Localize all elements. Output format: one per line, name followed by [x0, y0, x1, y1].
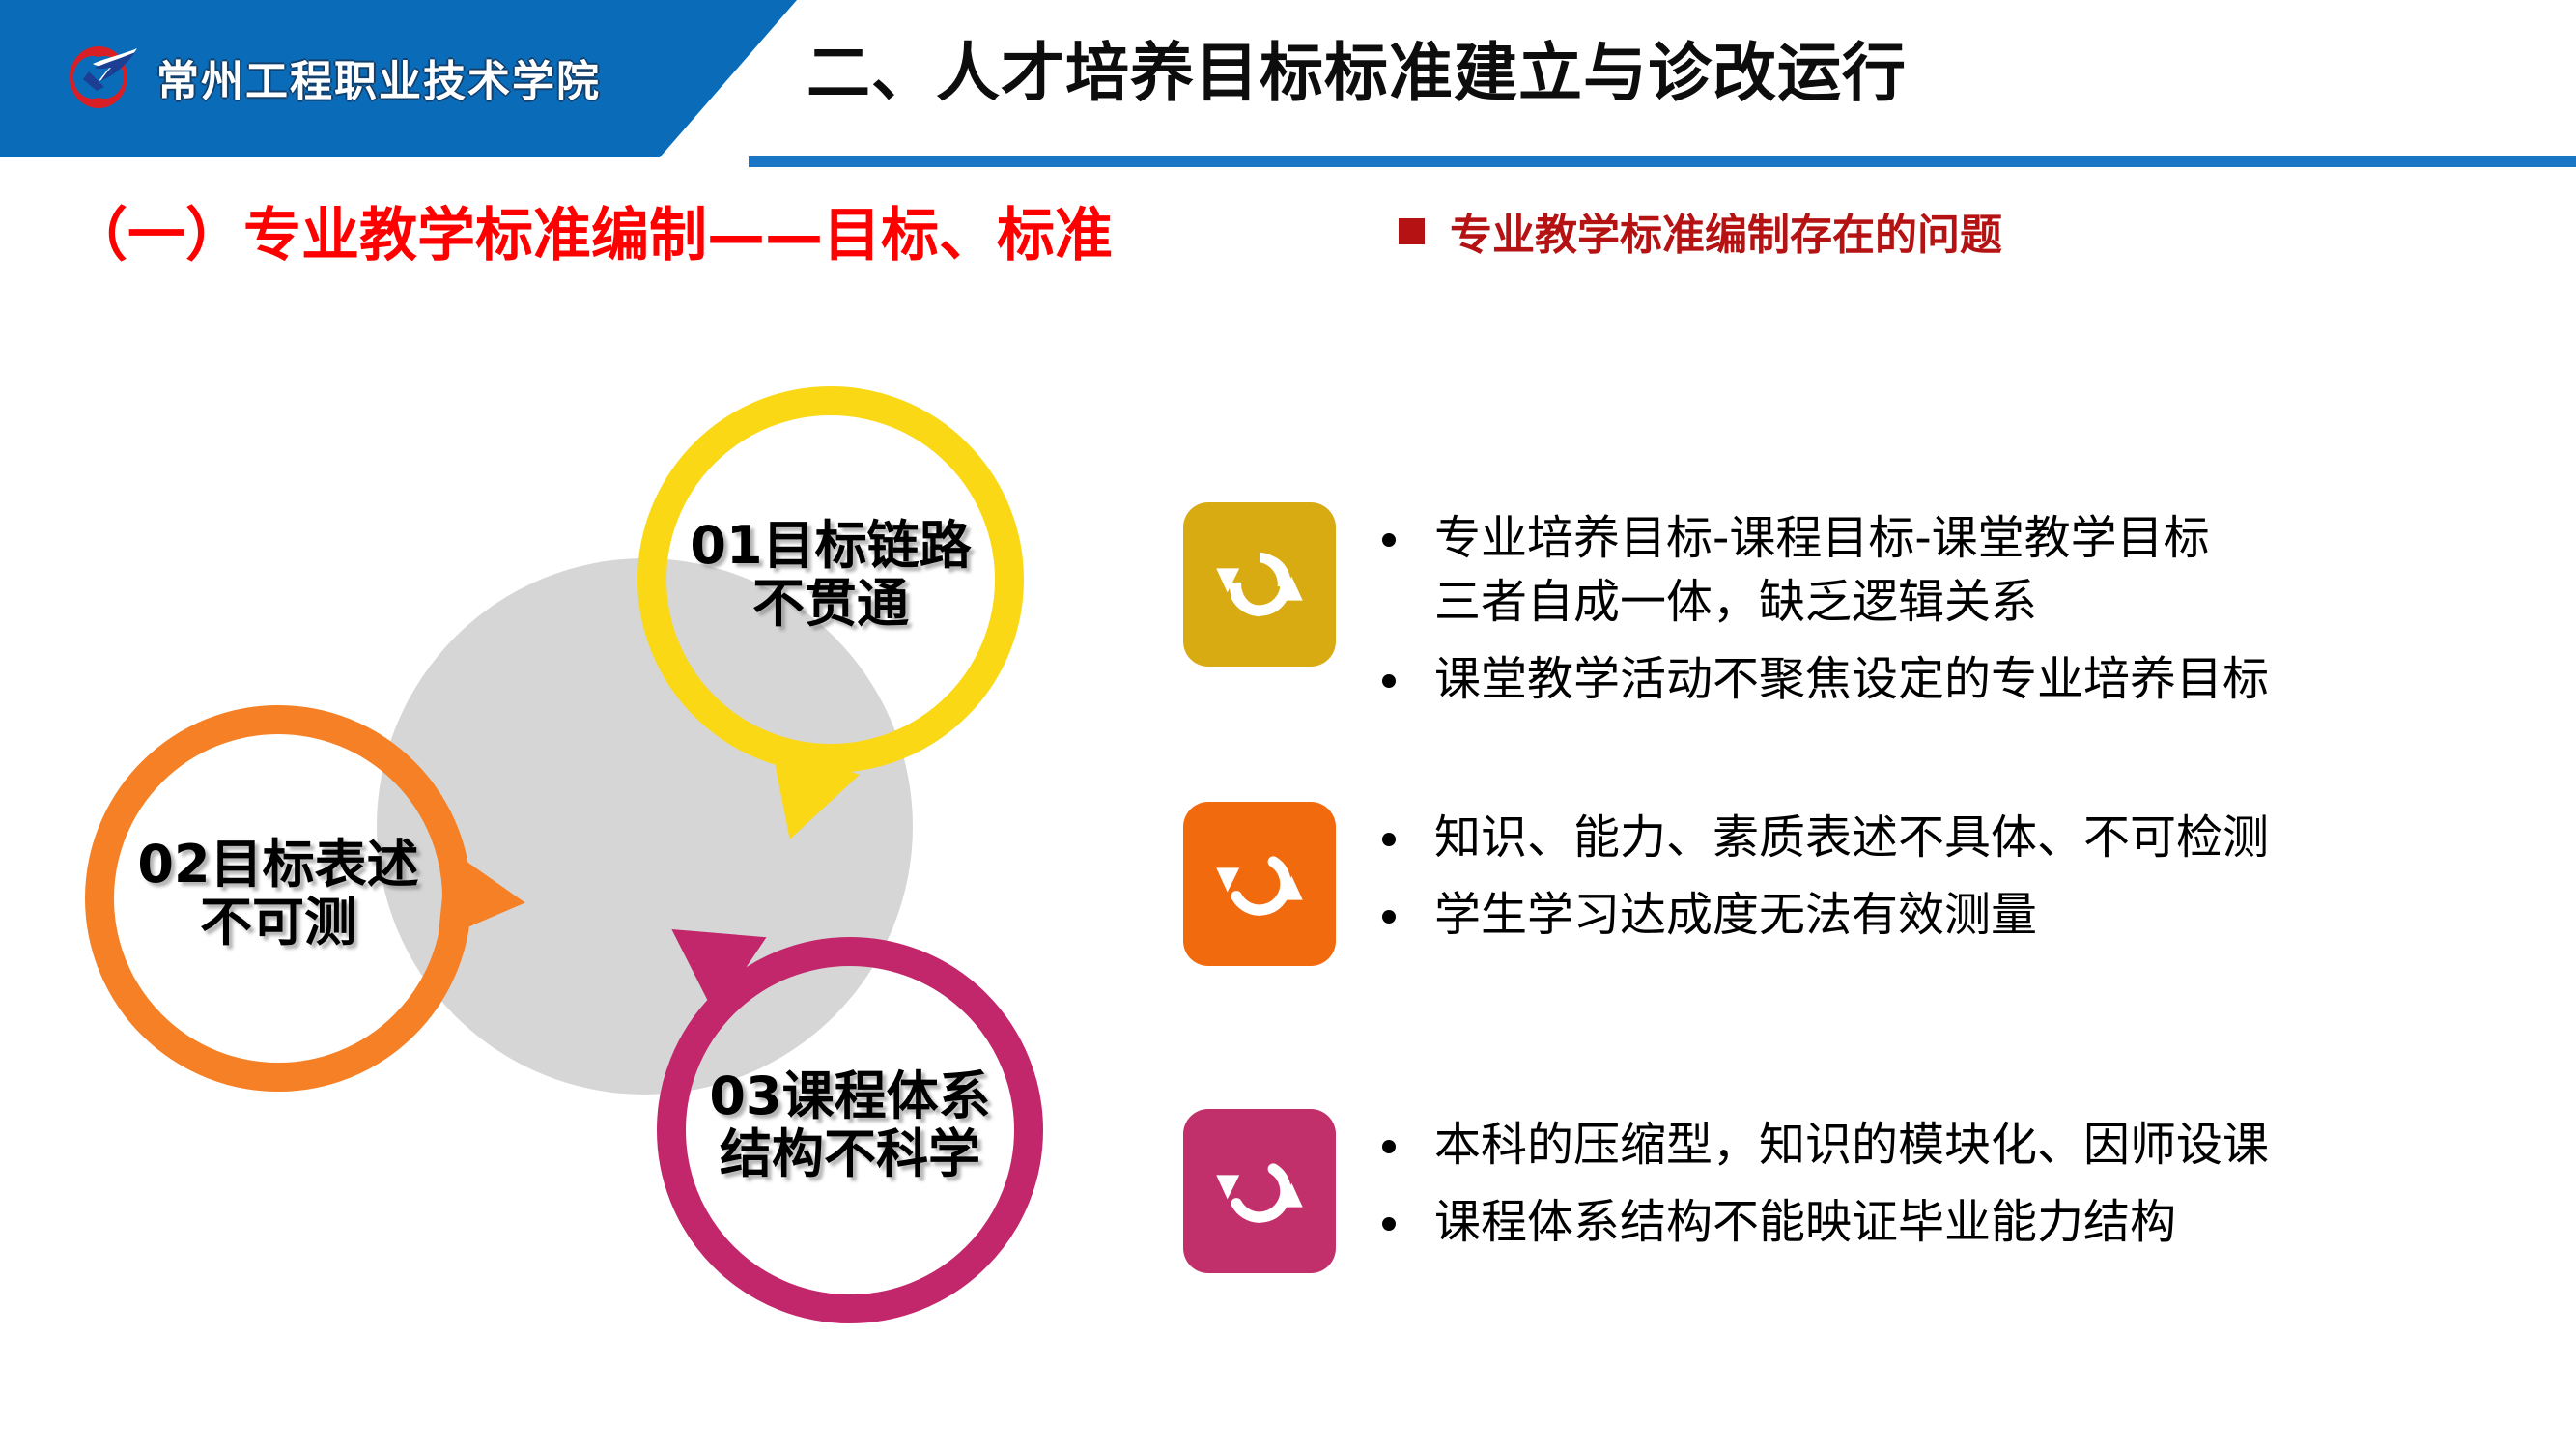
diagram-ring-03[interactable]: 03课程体系 结构不科学	[657, 937, 1043, 1323]
list-item: 知识、能力、素质表述不具体、不可检测	[1382, 806, 2269, 869]
bullet-dot-icon	[1382, 674, 1396, 688]
diagram-ring-03-line1: 03课程体系	[686, 1067, 1014, 1125]
section-subtitle: （一）专业教学标准编制——目标、标准	[70, 188, 1113, 272]
list-item: 专业培养目标-课程目标-课堂教学目标 三者自成一体，缺乏逻辑关系	[1382, 506, 2269, 634]
institution-logo: 常州工程职业技术学院	[60, 39, 601, 116]
problem-detail-row-1: 专业培养目标-课程目标-课堂教学目标 三者自成一体，缺乏逻辑关系 课堂教学活动不…	[1183, 502, 2269, 725]
list-item: 课堂教学活动不聚焦设定的专业培养目标	[1382, 647, 2269, 711]
diagram-ring-03-label: 03课程体系 结构不科学	[686, 1067, 1014, 1184]
diagram-ring-02-label: 02目标表述 不可测	[114, 836, 442, 952]
bullet-dot-icon	[1382, 910, 1396, 924]
problem-detail-row-3-bullets: 本科的压缩型，知识的模块化、因师设课 课程体系结构不能映证毕业能力结构	[1382, 1109, 2269, 1267]
diagram-ring-02[interactable]: 02目标表述 不可测	[85, 705, 471, 1092]
problem-diagram: 02目标表述 不可测 01目标链路 不贯通 03课程体系 结构不科学	[58, 319, 1198, 1420]
refresh-cycle-icon	[1183, 502, 1336, 667]
diagram-ring-01[interactable]: 01目标链路 不贯通	[637, 386, 1024, 773]
diagram-ring-01-line1: 01目标链路	[666, 517, 995, 575]
diagram-ring-03-line2: 结构不科学	[686, 1125, 1014, 1183]
list-item-text: 学生学习达成度无法有效测量	[1434, 883, 2037, 947]
bullet-dot-icon	[1382, 833, 1396, 846]
list-item-text: 课堂教学活动不聚焦设定的专业培养目标	[1434, 647, 2269, 711]
bullet-dot-icon	[1382, 1140, 1396, 1153]
problem-detail-row-2-bullets: 知识、能力、素质表述不具体、不可检测 学生学习达成度无法有效测量	[1382, 802, 2269, 960]
bullet-dot-icon	[1382, 533, 1396, 547]
problem-detail-row-3: 本科的压缩型，知识的模块化、因师设课 课程体系结构不能映证毕业能力结构	[1183, 1109, 2269, 1273]
diagram-ring-02-line1: 02目标表述	[114, 836, 442, 894]
list-item: 学生学习达成度无法有效测量	[1382, 883, 2269, 947]
list-item-text: 本科的压缩型，知识的模块化、因师设课	[1434, 1113, 2269, 1177]
university-emblem-icon	[60, 43, 139, 112]
list-item: 课程体系结构不能映证毕业能力结构	[1382, 1190, 2269, 1254]
list-item: 本科的压缩型，知识的模块化、因师设课	[1382, 1113, 2269, 1177]
refresh-cycle-icon	[1183, 802, 1336, 966]
refresh-cycle-icon	[1183, 1109, 1336, 1273]
list-item-text: 知识、能力、素质表述不具体、不可检测	[1434, 806, 2269, 869]
list-item-text: 专业培养目标-课程目标-课堂教学目标 三者自成一体，缺乏逻辑关系	[1434, 506, 2210, 634]
diagram-ring-02-line2: 不可测	[114, 894, 442, 952]
diagram-ring-01-line2: 不贯通	[666, 575, 995, 633]
problem-details-list: 专业培养目标-课程目标-课堂教学目标 三者自成一体，缺乏逻辑关系 课堂教学活动不…	[1183, 0, 2576, 1450]
problem-detail-row-1-bullets: 专业培养目标-课程目标-课堂教学目标 三者自成一体，缺乏逻辑关系 课堂教学活动不…	[1382, 502, 2269, 725]
problem-detail-row-2: 知识、能力、素质表述不具体、不可检测 学生学习达成度无法有效测量	[1183, 802, 2269, 966]
slide-root: 常州工程职业技术学院 二、人才培养目标标准建立与诊改运行 （一）专业教学标准编制…	[0, 0, 2576, 1450]
bullet-dot-icon	[1382, 1217, 1396, 1231]
list-item-text: 课程体系结构不能映证毕业能力结构	[1434, 1190, 2176, 1254]
institution-name: 常州工程职业技术学院	[156, 46, 601, 108]
diagram-ring-01-label: 01目标链路 不贯通	[666, 517, 995, 634]
